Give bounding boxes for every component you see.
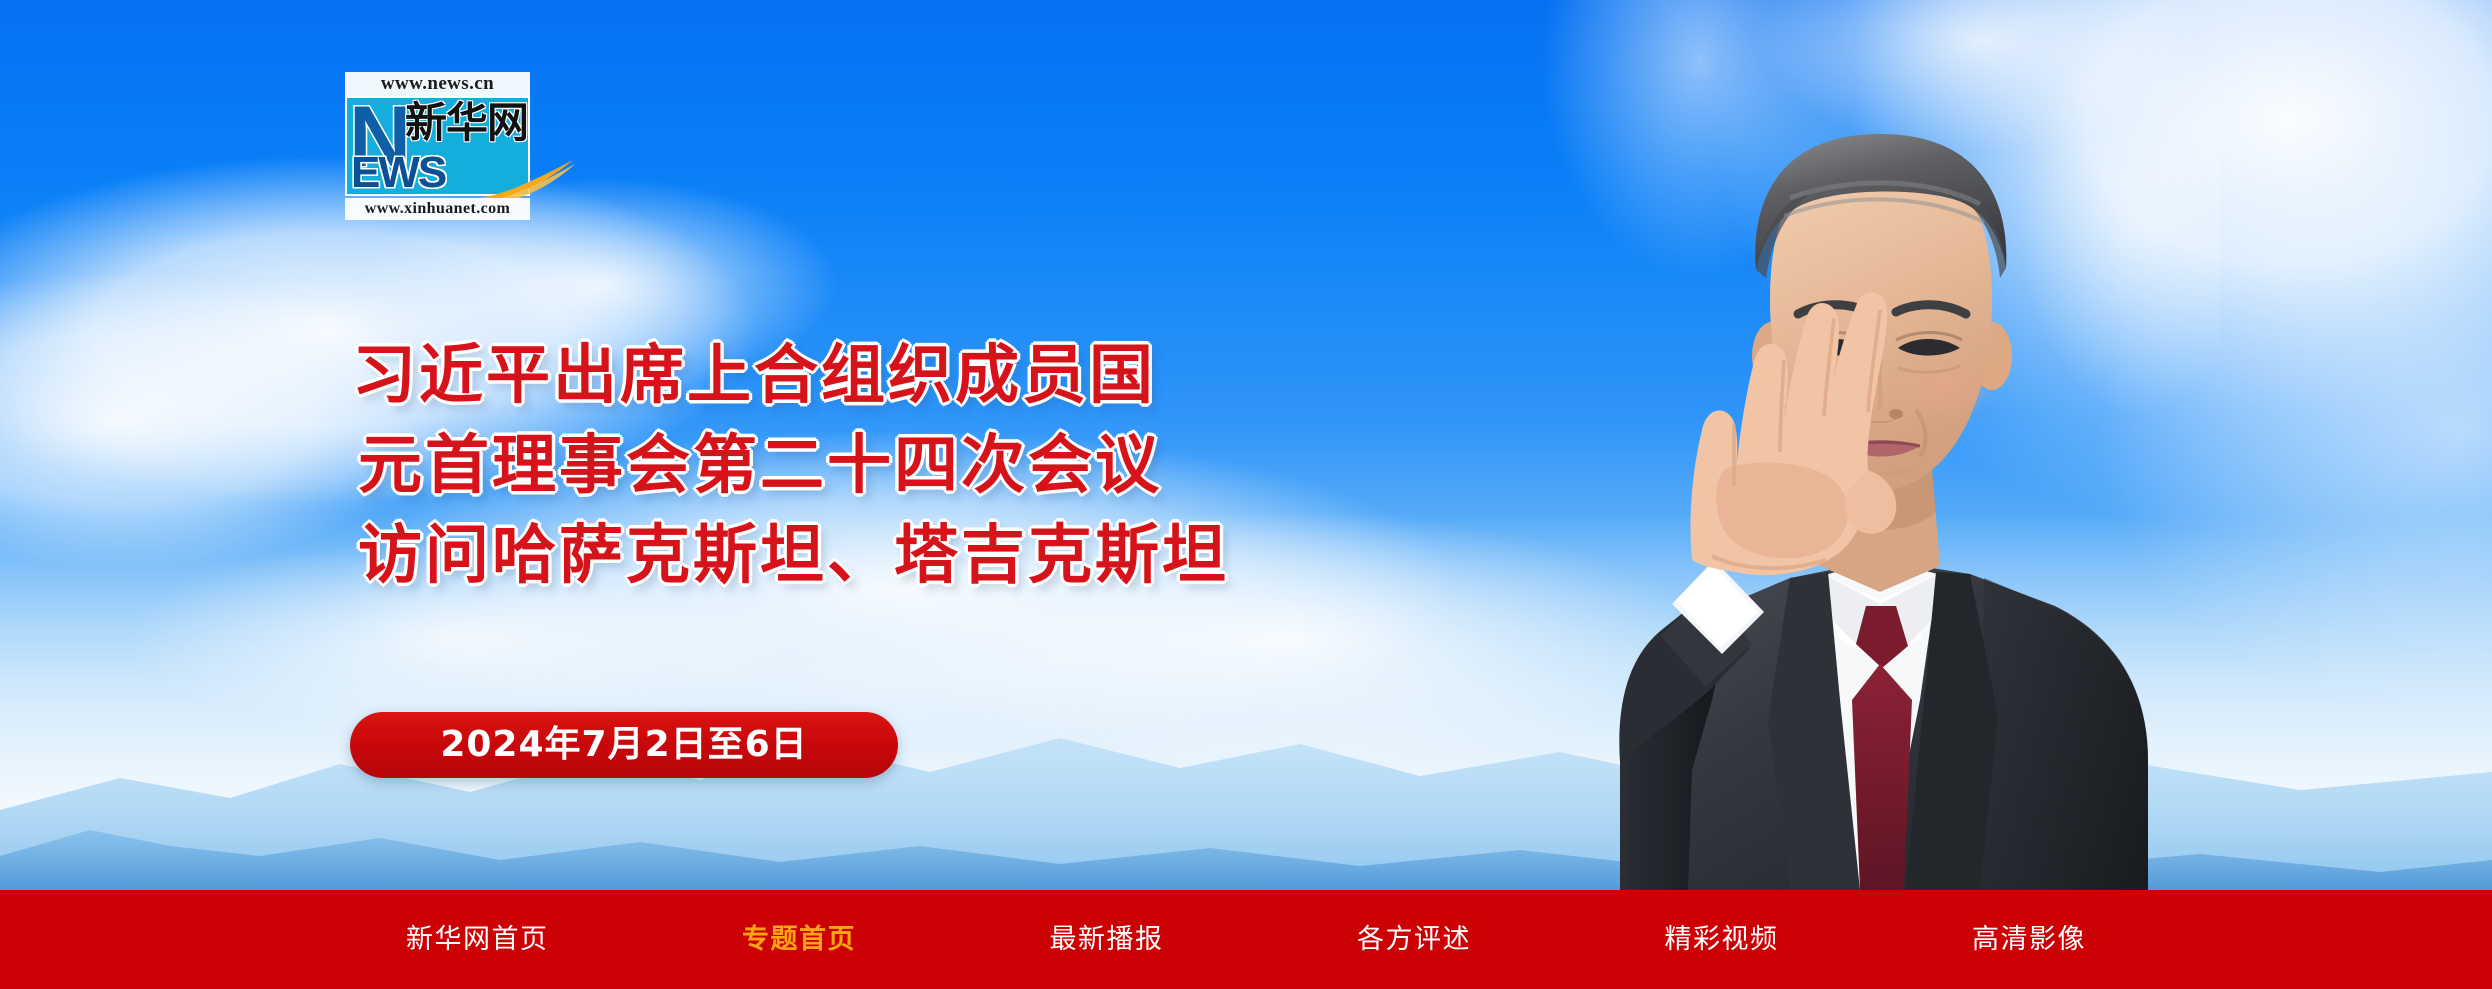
- banner-title: 习近平出席上合组织成员国 元首理事会第二十四次会议 访问哈萨克斯坦、塔吉克斯坦: [352, 340, 1229, 592]
- xinhua-logo[interactable]: www.news.cn N 新华网 EWS www.xinhuanet.com: [345, 68, 545, 228]
- logo-bottom-url-text: www.xinhuanet.com: [345, 198, 530, 220]
- logo-chinese-name: 新华网: [405, 100, 528, 146]
- nav-item-hd-images[interactable]: 高清影像: [1972, 925, 2086, 955]
- logo-news-text: EWS: [351, 150, 445, 196]
- title-line-3: 访问哈萨克斯坦、塔吉克斯坦: [358, 520, 1229, 592]
- nav-item-latest-reports[interactable]: 最新播报: [1050, 925, 1164, 955]
- title-line-1: 习近平出席上合组织成员国: [352, 340, 1229, 412]
- nav-item-videos[interactable]: 精彩视频: [1665, 925, 1779, 955]
- nav-item-commentary[interactable]: 各方评述: [1357, 925, 1471, 955]
- logo-mark-box: N 新华网 EWS: [345, 96, 530, 196]
- xinhua-special-topic-banner: www.news.cn N 新华网 EWS www.xinhuanet.com …: [0, 0, 2492, 989]
- nav-item-xinhua-home[interactable]: 新华网首页: [406, 925, 549, 955]
- date-badge-text: 2024年7月2日至6日: [440, 726, 807, 764]
- nav-items-container: 新华网首页 专题首页 最新播报 各方评述 精彩视频 高清影像: [396, 925, 2096, 955]
- title-line-2: 元首理事会第二十四次会议: [358, 430, 1229, 502]
- nav-item-topic-home[interactable]: 专题首页: [742, 925, 856, 955]
- date-badge: 2024年7月2日至6日: [350, 712, 898, 778]
- bottom-navigation-bar: 新华网首页 专题首页 最新播报 各方评述 精彩视频 高清影像: [0, 890, 2492, 989]
